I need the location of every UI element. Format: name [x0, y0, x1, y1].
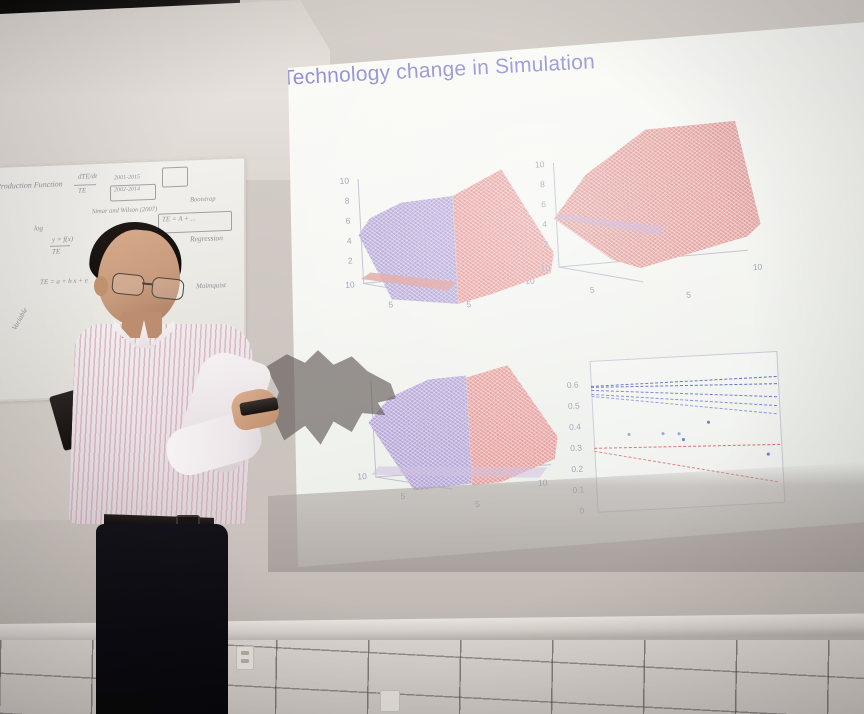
- photo-scene: Production Function dTE/dt TE 2001-2015 …: [0, 0, 864, 714]
- x-tick: 10: [345, 279, 355, 289]
- wall-upper-left: [0, 0, 330, 180]
- z-tick: 8: [540, 179, 545, 189]
- y-tick: 0.6: [567, 380, 579, 391]
- scatter-point: [627, 433, 630, 436]
- z-tick: 10: [339, 175, 349, 185]
- whiteboard-note: 2001-2015: [114, 174, 140, 181]
- presenter-trousers: [96, 524, 228, 714]
- scatter-point: [767, 453, 770, 456]
- surface-mesh: [366, 361, 562, 497]
- y-tick: 0.5: [568, 401, 580, 412]
- z-tick: 10: [535, 159, 545, 169]
- projection-screen: Technology change in Simulation 10 8 6 4…: [268, 22, 864, 567]
- surface-face-left: [357, 196, 459, 309]
- y-tick: 0.3: [570, 442, 582, 453]
- scatter-point: [707, 421, 710, 424]
- whiteboard-note: 2002-2014: [114, 186, 140, 193]
- y-tick: 5: [475, 499, 480, 509]
- z-tick: 8: [344, 196, 349, 206]
- whiteboard-note: Bootstrap: [190, 195, 216, 203]
- surface-mesh: [549, 120, 767, 291]
- glasses-lens-left: [111, 272, 145, 296]
- wall-outlet-secondary-icon: [380, 690, 400, 712]
- z-tick: 4: [542, 219, 547, 229]
- z-tick: 10: [357, 471, 367, 481]
- y-tick: 0.1: [572, 484, 584, 495]
- z-tick: 4: [347, 235, 352, 245]
- x-tick: 10: [540, 263, 550, 273]
- presenter: [72, 224, 268, 714]
- slide-content: Technology change in Simulation 10 8 6 4…: [268, 22, 864, 567]
- surface-mesh: [355, 168, 542, 307]
- y-tick: 0.2: [571, 463, 583, 474]
- z-tick: 2: [348, 255, 353, 265]
- y-tick: 5: [686, 289, 691, 299]
- whiteboard-note: y = f(x): [52, 235, 73, 244]
- z-tick: 6: [345, 215, 350, 225]
- chart-surface-top-right: 10 8 6 4 2 10 5 5 10: [529, 143, 787, 316]
- plot-frame: [590, 351, 786, 513]
- whiteboard-note: TE: [52, 247, 60, 255]
- scatter-point: [677, 432, 680, 435]
- scatter-point: [682, 438, 685, 441]
- whiteboard-note: log: [34, 224, 43, 232]
- z-tick: 2: [543, 239, 548, 249]
- scatter-point: [661, 432, 664, 435]
- z-tick: 6: [541, 199, 546, 209]
- y-tick: 0: [579, 505, 584, 515]
- whiteboard-note: TE = A + ...: [162, 214, 196, 223]
- surface-face-single: [549, 120, 767, 291]
- presenter-ear: [94, 276, 108, 296]
- y-tick: 0.4: [569, 422, 581, 433]
- whiteboard-note: dTE/dt: [78, 172, 97, 181]
- presenter-shoe: [96, 694, 154, 714]
- glasses-lens-right: [151, 276, 185, 300]
- whiteboard-note: TE: [78, 186, 86, 194]
- chart-efficiency-decline: 0.6 0.5 0.4 0.3 0.2 0.1 0: [563, 346, 802, 530]
